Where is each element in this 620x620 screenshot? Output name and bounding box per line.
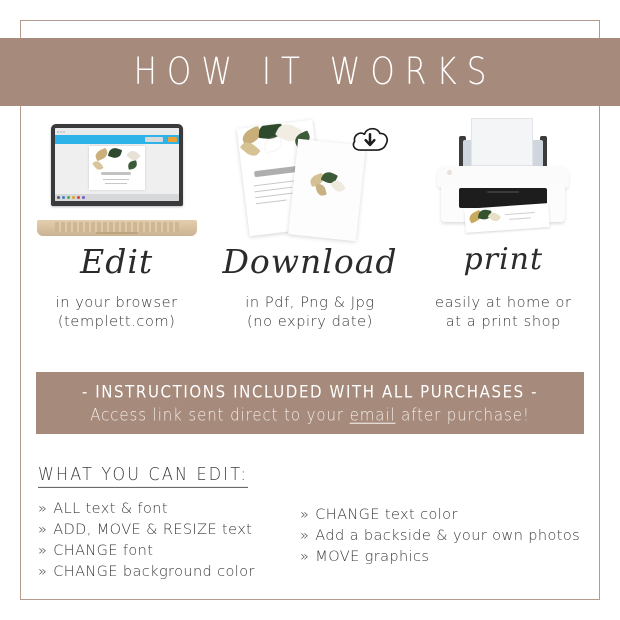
laptop-illustration [20, 118, 213, 246]
invitation-body-line [103, 179, 129, 180]
instructions-subline-before: Access link sent direct to your [90, 405, 349, 425]
cards-illustration [213, 118, 406, 246]
browser-page-area [55, 144, 179, 194]
list-item: » ALL text & font [38, 500, 300, 519]
printed-sheet [465, 203, 550, 233]
foliage-icon [107, 146, 122, 159]
browser-chrome-bar [55, 128, 179, 135]
printer-icon [423, 118, 583, 244]
list-item-label: ALL text & font [53, 500, 168, 519]
step-caption-line2: (templett.com) [56, 313, 178, 332]
steps-row: Edit in your browser (templett.com) [20, 118, 600, 348]
bullet-icon: » [300, 548, 309, 567]
edit-features-lists: » ALL text & font » ADD, MOVE & RESIZE t… [38, 500, 594, 584]
card-line [255, 192, 297, 198]
list-item: » CHANGE font [38, 542, 300, 561]
printed-line [505, 212, 535, 215]
bullet-icon: » [38, 500, 47, 519]
step-caption-line1: in your browser [56, 294, 178, 313]
instructions-subline-after: after purchase! [395, 405, 529, 425]
browser-dot-icon [63, 131, 65, 133]
laptop-screen [55, 128, 179, 201]
card-line [254, 187, 292, 193]
laptop-icon [37, 124, 197, 236]
page-title: HOW IT WORKS [124, 50, 497, 94]
bullet-icon: » [38, 521, 47, 540]
bullet-icon: » [300, 527, 309, 546]
taskbar-app-icon [77, 196, 80, 199]
taskbar-app-icon [57, 196, 60, 199]
invitation-body-line [105, 183, 127, 184]
list-item: » ADD, MOVE & RESIZE text [38, 521, 300, 540]
foliage-icon [264, 137, 282, 152]
header-banner: HOW IT WORKS [0, 38, 620, 106]
bullet-icon: » [38, 563, 47, 582]
list-item: » MOVE graphics [300, 548, 594, 567]
list-item-label: CHANGE background color [53, 563, 255, 582]
os-taskbar [55, 194, 179, 201]
taskbar-app-icon [67, 196, 70, 199]
foliage-icon [127, 160, 137, 169]
list-item-label: MOVE graphics [315, 548, 429, 567]
step-edit: Edit in your browser (templett.com) [20, 118, 213, 348]
list-item: » CHANGE background color [38, 563, 300, 582]
edit-features-right-column: » CHANGE text color » Add a backside & y… [300, 500, 594, 584]
invitation-names-text [101, 172, 131, 175]
edit-section-heading: WHAT YOU CAN EDIT: [38, 463, 248, 488]
step-caption-line1: in Pdf, Png & Jpg [245, 294, 374, 313]
taskbar-app-icon [82, 196, 85, 199]
foliage-icon [92, 159, 103, 171]
list-item: » Add a backside & your own photos [300, 527, 594, 546]
edit-features-left-column: » ALL text & font » ADD, MOVE & RESIZE t… [38, 500, 300, 584]
step-download: Download in Pdf, Png & Jpg (no expiry da… [213, 118, 406, 348]
poster-root: HOW IT WORKS [0, 0, 620, 620]
list-item: » CHANGE text color [300, 506, 594, 525]
list-item-label: CHANGE text color [315, 506, 458, 525]
list-item-label: Add a backside & your own photos [315, 527, 580, 546]
instructions-headline: - INSTRUCTIONS INCLUDED WITH ALL PURCHAS… [82, 382, 538, 402]
foliage-icon [315, 183, 327, 197]
step-script-label: print [464, 242, 544, 288]
laptop-lid [51, 124, 183, 206]
step-script-label: Edit [80, 242, 153, 288]
step-script-label: Download [222, 242, 397, 288]
bullet-icon: » [300, 506, 309, 525]
browser-dot-icon [57, 131, 59, 133]
laptop-keyboard [55, 222, 179, 232]
browser-toolbar [55, 135, 179, 144]
browser-dot-icon [60, 131, 62, 133]
list-item-label: ADD, MOVE & RESIZE text [53, 521, 252, 540]
printer-power-button[interactable] [447, 170, 452, 175]
printable-cards-icon [235, 120, 385, 244]
foliage-icon [93, 148, 109, 162]
instructions-band: - INSTRUCTIONS INCLUDED WITH ALL PURCHAS… [36, 372, 584, 434]
step-caption: in Pdf, Png & Jpg (no expiry date) [245, 294, 374, 332]
step-print: print easily at home or at a print shop [407, 118, 600, 348]
printer-illustration [407, 118, 600, 246]
printer-input-paper [471, 118, 533, 166]
step-caption: easily at home or at a print shop [435, 294, 572, 332]
foliage-icon [240, 139, 261, 159]
instructions-subline: Access link sent direct to your email af… [90, 405, 530, 425]
taskbar-app-icon [62, 196, 65, 199]
taskbar-app-icon [72, 196, 75, 199]
laptop-base [37, 220, 197, 236]
foliage-icon [488, 210, 502, 223]
list-item-label: CHANGE font [53, 542, 153, 561]
step-caption-line2: (no expiry date) [245, 313, 374, 332]
bullet-icon: » [38, 542, 47, 561]
email-link[interactable]: email [350, 405, 396, 425]
invitation-preview-card [89, 146, 145, 190]
printed-line [509, 217, 531, 220]
invitation-card-back [288, 139, 366, 242]
card-line [256, 199, 287, 204]
step-caption-line1: easily at home or [435, 294, 572, 313]
cloud-download-icon [351, 124, 389, 154]
step-caption: in your browser (templett.com) [56, 294, 178, 332]
step-caption-line2: at a print shop [435, 313, 572, 332]
